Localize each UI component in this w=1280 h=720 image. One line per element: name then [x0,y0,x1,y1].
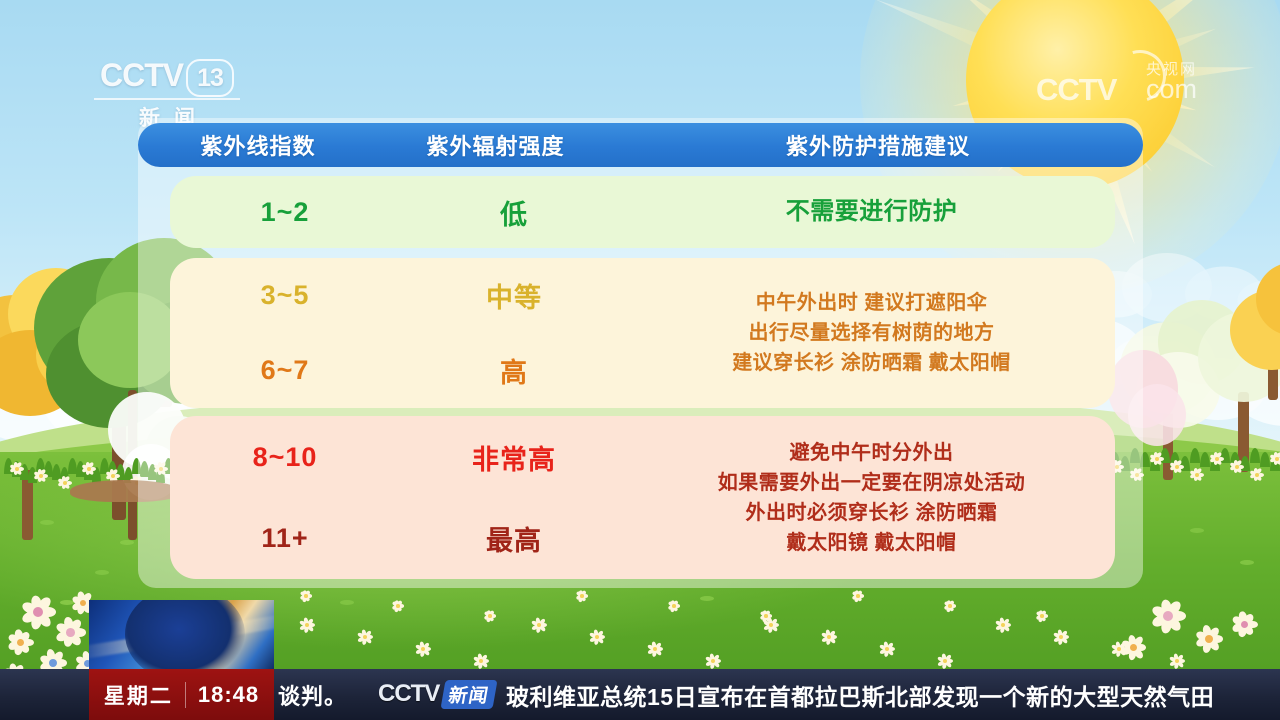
band-advice-column: 不需要进行防护 [628,176,1115,248]
advice-line: 如果需要外出一定要在阴凉处活动 [628,468,1115,498]
flower-center [1275,457,1279,461]
flower-center [672,604,676,608]
flower-center [15,467,19,471]
flower [1170,460,1183,473]
uv-level-label: 最高 [400,519,628,558]
flower [484,610,496,622]
table-row: 3~5 [170,258,400,333]
channel-logo-top: CCTV13 [82,58,252,97]
clock-divider [185,682,186,708]
flower [300,618,314,632]
flower [822,630,836,644]
flower [392,600,404,612]
flower [944,600,956,612]
ticker-brand-news: 新闻 [441,680,498,709]
channel-logo: CCTV13 新闻 [82,58,252,120]
channel-logo-divider [94,98,240,100]
weekday-label: 星期二 [104,680,173,710]
flower [56,618,85,647]
grass-speck [340,600,354,605]
table-row: 中等 [400,258,628,333]
flower [34,469,47,482]
uv-index-value: 3~5 [170,280,400,311]
flower-center [87,467,91,471]
flower [1054,630,1068,644]
flower-center [1155,457,1159,461]
flower-center [488,614,492,618]
flower-center [63,481,67,485]
flower [1170,654,1184,668]
column-header-level: 紫外辐射强度 [378,129,613,161]
channel-promo-graphic [89,600,274,669]
flower-center [111,474,115,478]
flower [474,654,488,668]
advice-line: 避免中午时分外出 [628,438,1115,468]
flower-center [1205,635,1213,643]
advice-line: 不需要进行防护 [628,197,1115,227]
flower-center [304,594,308,598]
advice-line: 外出时必须穿长衫 涂防晒霜 [628,498,1115,528]
flower [648,642,662,656]
flower-center [1215,457,1219,461]
band-level-column: 中等高 [400,258,628,408]
flower [1250,468,1263,481]
flower-center [764,614,768,618]
ticker-previous-tail: 谈判。 [278,669,347,720]
watermark-cctv: CCTV [1036,74,1116,105]
flower-center [1195,473,1199,477]
grass-speck [95,570,109,575]
flower [852,590,864,602]
flower-center [1175,465,1179,469]
flower [1112,642,1126,656]
flower [938,654,952,668]
advice-line: 建议穿长衫 涂防晒霜 戴太阳帽 [628,348,1115,378]
band-index-column: 1~2 [170,176,400,248]
grass-speck [1190,528,1204,533]
flower [1270,452,1280,465]
flower-center [1235,465,1239,469]
channel-logo-number: 13 [186,59,234,97]
table-band-red: 8~1011+非常高最高避免中午时分外出如果需要外出一定要在阴凉处活动外出时必须… [170,416,1115,579]
flower-center [856,594,860,598]
uv-index-value: 8~10 [170,442,400,473]
flower [880,642,894,656]
flower-center [948,604,952,608]
flower-center [396,604,400,608]
flower-center [1040,614,1044,618]
flower [996,618,1010,632]
flower [668,600,680,612]
table-band-yellow: 3~56~7中等高中午外出时 建议打遮阳伞出行尽量选择有树荫的地方建议穿长衫 涂… [170,258,1115,408]
flower [8,630,33,655]
flower [82,462,95,475]
advice-line: 出行尽量选择有树荫的地方 [628,318,1115,348]
band-level-column: 低 [400,176,628,248]
grass-speck [120,540,134,545]
watermark-com: com [1146,76,1197,103]
flower-center [49,659,57,667]
flower [22,596,55,629]
clock-block: 星期二 18:48 [89,669,274,720]
table-row: 1~2 [170,176,400,248]
flower [1230,460,1243,473]
flower [1232,612,1257,637]
channel-logo-cctv: CCTV [100,57,183,93]
table-row: 最高 [400,498,628,579]
flower [10,462,23,475]
uv-index-value: 6~7 [170,355,400,386]
table-header-bar: 紫外线指数 紫外辐射强度 紫外防护措施建议 [138,123,1143,167]
advice-line: 戴太阳镜 戴太阳帽 [628,528,1115,558]
flower-center [1255,473,1259,477]
ticker-brand: CCTV 新闻 [378,678,495,710]
table-row: 8~10 [170,417,400,498]
flower [760,610,772,622]
flower [532,618,546,632]
uv-index-panel: 紫外线指数 紫外辐射强度 紫外防护措施建议 1~2低不需要进行防护3~56~7中… [138,118,1143,588]
flower [1196,626,1222,652]
flower-center [39,474,43,478]
flower [358,630,372,644]
promo-streak [89,613,274,659]
band-level-column: 非常高最高 [400,416,628,579]
flower [58,476,71,489]
band-advice-column: 中午外出时 建议打遮阳伞出行尽量选择有树荫的地方建议穿长衫 涂防晒霜 戴太阳帽 [628,258,1115,408]
grass-speck [40,520,54,525]
table-band-green: 1~2低不需要进行防护 [170,176,1115,248]
advice-line: 中午外出时 建议打遮阳伞 [628,288,1115,318]
clock-time: 18:48 [198,682,259,708]
flower-center [580,594,584,598]
table-row: 6~7 [170,333,400,408]
cctv-com-watermark: CCTV 央视网 com [1036,52,1216,108]
uv-level-label: 中等 [400,276,628,315]
uv-level-label: 非常高 [400,438,628,477]
table-row: 非常高 [400,417,628,498]
flower [576,590,588,602]
band-index-column: 8~1011+ [170,416,400,579]
flower [1152,600,1185,633]
column-header-index: 紫外线指数 [138,129,378,161]
ticker-brand-cctv: CCTV [378,680,439,708]
flower [706,654,720,668]
flower [1210,452,1223,465]
uv-level-label: 低 [400,193,628,232]
table-row: 高 [400,333,628,408]
column-header-advice: 紫外防护措施建议 [613,129,1143,161]
grass-speck [1240,560,1254,565]
flower [1150,452,1163,465]
flower [590,630,604,644]
band-advice-column: 避免中午时分外出如果需要外出一定要在阴凉处活动外出时必须穿长衫 涂防晒霜戴太阳镜… [628,416,1115,579]
uv-level-label: 高 [400,351,628,390]
ticker-headline: 玻利维亚总统15日宣布在首都拉巴斯北部发现一个新的大型天然气田 [506,669,1214,720]
uv-index-value: 1~2 [170,197,400,228]
band-index-column: 3~56~7 [170,258,400,408]
flower [300,590,312,602]
flower-center [66,628,75,637]
table-row: 低 [400,176,628,248]
flower [416,642,430,656]
table-row: 11+ [170,498,400,579]
flower [1036,610,1048,622]
flower [1190,468,1203,481]
uv-index-value: 11+ [170,523,400,554]
grass-speck [700,596,714,601]
